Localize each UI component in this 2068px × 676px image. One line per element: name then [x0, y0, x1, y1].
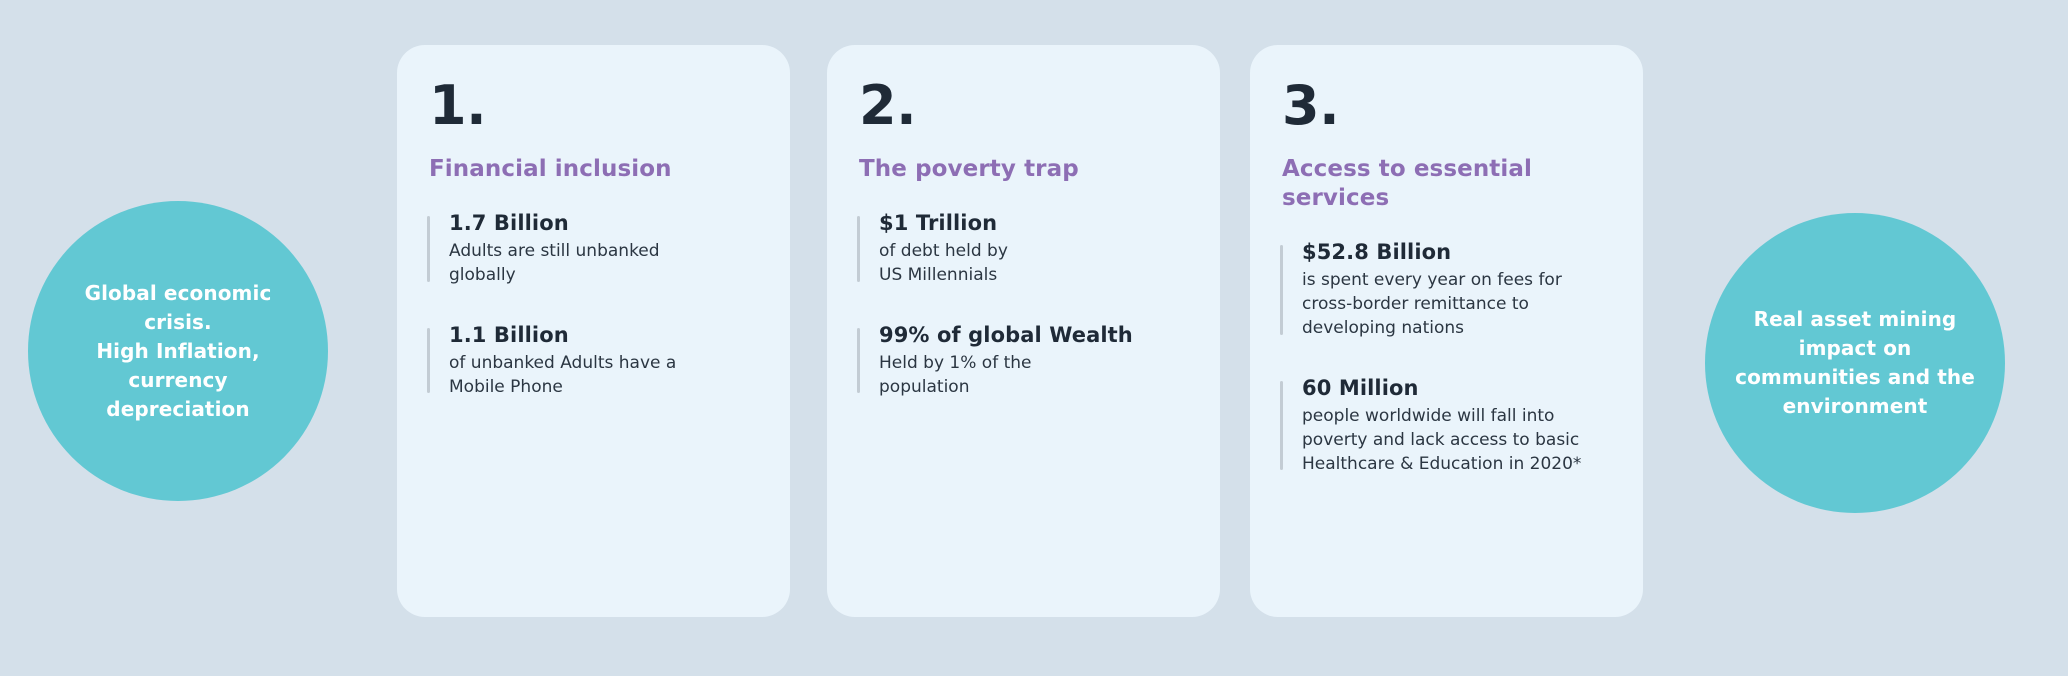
stat-description: people worldwide will fall into poverty …	[1302, 404, 1613, 476]
card-title: Financial inclusion	[429, 155, 760, 184]
card-stat-list: $1 Trillion of debt held by US Millennia…	[857, 210, 1190, 399]
insight-card-1: 1. Financial inclusion 1.7 Billion Adult…	[397, 45, 790, 617]
stat-description: is spent every year on fees for cross-bo…	[1302, 268, 1613, 340]
stat-value: $1 Trillion	[879, 210, 1190, 237]
card-title: The poverty trap	[859, 155, 1190, 184]
stat-block: 60 Million people worldwide will fall in…	[1280, 375, 1613, 477]
right-circle-text: Real asset mining impact on communities …	[1735, 305, 1975, 421]
stat-value: 99% of global Wealth	[879, 322, 1190, 349]
card-number: 1.	[429, 79, 760, 133]
card-title: Access to essential services	[1282, 155, 1613, 213]
stat-block: $1 Trillion of debt held by US Millennia…	[857, 210, 1190, 288]
stat-description: of debt held by US Millennials	[879, 239, 1190, 287]
stat-block: 99% of global Wealth Held by 1% of the p…	[857, 322, 1190, 400]
stat-description: Held by 1% of the population	[879, 351, 1190, 399]
card-number: 2.	[859, 79, 1190, 133]
left-context-circle: Global economic crisis. High Inflation, …	[28, 201, 328, 501]
insight-card-2: 2. The poverty trap $1 Trillion of debt …	[827, 45, 1220, 617]
card-stat-list: $52.8 Billion is spent every year on fee…	[1280, 239, 1613, 476]
stat-block: $52.8 Billion is spent every year on fee…	[1280, 239, 1613, 341]
stat-value: $52.8 Billion	[1302, 239, 1613, 266]
insight-card-3: 3. Access to essential services $52.8 Bi…	[1250, 45, 1643, 617]
stat-value: 1.7 Billion	[449, 210, 760, 237]
stat-block: 1.1 Billion of unbanked Adults have a Mo…	[427, 322, 760, 400]
stat-block: 1.7 Billion Adults are still unbanked gl…	[427, 210, 760, 288]
right-context-circle: Real asset mining impact on communities …	[1705, 213, 2005, 513]
stat-description: of unbanked Adults have a Mobile Phone	[449, 351, 760, 399]
stat-value: 1.1 Billion	[449, 322, 760, 349]
left-circle-text: Global economic crisis. High Inflation, …	[85, 279, 272, 424]
stat-description: Adults are still unbanked globally	[449, 239, 760, 287]
stat-value: 60 Million	[1302, 375, 1613, 402]
card-number: 3.	[1282, 79, 1613, 133]
card-stat-list: 1.7 Billion Adults are still unbanked gl…	[427, 210, 760, 399]
